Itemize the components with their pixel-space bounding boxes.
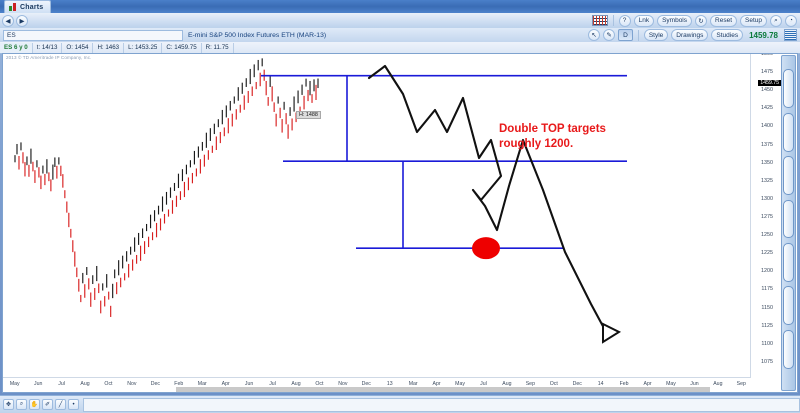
price-tick: 1375 bbox=[761, 142, 773, 148]
daily-interval-button[interactable]: D bbox=[618, 29, 633, 41]
price-tick: 1425 bbox=[761, 105, 773, 111]
price-tick: 1225 bbox=[761, 250, 773, 256]
price-tick: 1475 bbox=[761, 69, 773, 75]
status-field[interactable] bbox=[83, 398, 800, 412]
reset-button[interactable]: Reset bbox=[710, 15, 737, 27]
price-tick: 1450 bbox=[761, 87, 773, 93]
symbol-toolbar: ES E-mini S&P 500 Index Futures ETH (MAR… bbox=[0, 28, 800, 43]
line-tool[interactable]: ╱ bbox=[55, 399, 66, 410]
pencil-button[interactable]: ✎ bbox=[603, 29, 615, 41]
window-tab-label: Charts bbox=[20, 4, 43, 11]
dot-tool[interactable]: • bbox=[68, 399, 79, 410]
date-tick: Aug bbox=[713, 381, 722, 387]
title-bar: Charts bbox=[0, 0, 800, 13]
price-tick: 1300 bbox=[761, 196, 773, 202]
scrollbar-thumb[interactable] bbox=[783, 200, 794, 239]
toolbar-separator bbox=[613, 15, 614, 26]
refresh-button[interactable]: ↻ bbox=[695, 15, 707, 27]
pan-tool[interactable]: ✋ bbox=[29, 399, 40, 410]
scrollbar-thumb[interactable] bbox=[783, 69, 794, 108]
symbols-button[interactable]: Symbols bbox=[657, 15, 692, 27]
symbol-description: E-mini S&P 500 Index Futures ETH (MAR-13… bbox=[188, 32, 326, 39]
projection-arrowhead[interactable] bbox=[603, 324, 619, 342]
quote-open: O: 1454 bbox=[62, 43, 93, 53]
price-tick: 1200 bbox=[761, 268, 773, 274]
style-menu[interactable]: Style bbox=[644, 29, 668, 41]
date-tick: Jun bbox=[34, 381, 42, 387]
bar-chart-icon[interactable] bbox=[784, 29, 797, 41]
chart-plot-area[interactable] bbox=[3, 54, 751, 378]
status-bar: ✥ ⌕ ✋ ✐ ╱ • bbox=[0, 395, 800, 413]
date-tick: Dec bbox=[151, 381, 160, 387]
price-tick: 1500 bbox=[761, 53, 773, 57]
price-tick: 1150 bbox=[761, 305, 773, 311]
drawings-menu[interactable]: Drawings bbox=[671, 29, 708, 41]
price-axis-scrollbar[interactable] bbox=[781, 55, 796, 391]
price-tick: 1325 bbox=[761, 178, 773, 184]
link-button[interactable]: Lnk bbox=[634, 15, 654, 27]
arrow-right-icon[interactable]: ▶ bbox=[16, 15, 28, 27]
last-price-display: 1459.78 bbox=[746, 31, 781, 40]
quote-date: t: 14/13 bbox=[33, 43, 63, 53]
date-tick: May bbox=[10, 381, 20, 387]
chart-grid-icon[interactable] bbox=[592, 15, 608, 26]
studies-menu[interactable]: Studies bbox=[711, 29, 743, 41]
zoom-button[interactable]: ⌕ bbox=[770, 15, 782, 27]
annotation-line-1: Double TOP targets bbox=[499, 122, 606, 137]
date-tick: Jul bbox=[58, 381, 65, 387]
cursor-button[interactable]: ↖ bbox=[588, 29, 600, 41]
date-tick: Oct bbox=[104, 381, 112, 387]
price-tick: 1075 bbox=[761, 359, 773, 365]
high-price-tag: H: 1488 bbox=[296, 111, 321, 119]
quote-range: R: 11.75 bbox=[202, 43, 234, 53]
price-tick: 1275 bbox=[761, 214, 773, 220]
target-marker[interactable] bbox=[472, 237, 500, 259]
chart-annotation: Double TOP targets roughly 1200. bbox=[499, 122, 606, 152]
draw-tool[interactable]: ✐ bbox=[42, 399, 53, 410]
scrollbar-thumb[interactable] bbox=[783, 243, 794, 282]
clock-button[interactable]: ◔ bbox=[785, 15, 797, 27]
price-chart-svg bbox=[3, 54, 751, 378]
quote-symbol: ES 6 y 0 bbox=[0, 43, 33, 53]
arrow-left-icon[interactable]: ◀ bbox=[2, 15, 14, 27]
trading-platform-window: Charts ◀ ▶ ? Lnk Symbols ↻ Reset Setup ⌕… bbox=[0, 0, 800, 413]
watermark-banner: www.thecompletecoveragereport.blospot.co… bbox=[176, 387, 710, 393]
scrollbar-thumb[interactable] bbox=[783, 330, 794, 369]
annotation-line-2: roughly 1200. bbox=[499, 137, 606, 152]
price-tick: 1125 bbox=[761, 323, 773, 329]
toolbar-separator-2 bbox=[638, 30, 639, 41]
quote-low: L: 1453.25 bbox=[124, 43, 162, 53]
price-tick: 1100 bbox=[761, 341, 773, 347]
price-bars bbox=[15, 58, 318, 317]
setup-button[interactable]: Setup bbox=[740, 15, 767, 27]
chart-window[interactable]: 2013 © TD Ameritrade IP Company, Inc. H:… bbox=[2, 53, 798, 393]
scrollbar-thumb[interactable] bbox=[783, 113, 794, 152]
date-tick: Nov bbox=[127, 381, 136, 387]
price-tick: 1250 bbox=[761, 232, 773, 238]
quote-high: H: 1463 bbox=[93, 43, 124, 53]
price-axis[interactable]: 1500147514501425140013751350132513001275… bbox=[750, 54, 797, 392]
quote-close: C: 1459.75 bbox=[162, 43, 201, 53]
chart-icon bbox=[9, 3, 17, 11]
price-tick: 1400 bbox=[761, 123, 773, 129]
window-tab-charts[interactable]: Charts bbox=[4, 0, 51, 13]
crosshair-tool[interactable]: ✥ bbox=[3, 399, 14, 410]
date-tick: Aug bbox=[80, 381, 89, 387]
symbol-input[interactable]: ES bbox=[3, 30, 183, 41]
main-toolbar: ◀ ▶ ? Lnk Symbols ↻ Reset Setup ⌕ ◔ bbox=[0, 13, 800, 29]
date-tick: Sep bbox=[737, 381, 746, 387]
price-tick: 1350 bbox=[761, 160, 773, 166]
magnify-tool[interactable]: ⌕ bbox=[16, 399, 27, 410]
scrollbar-thumb[interactable] bbox=[783, 286, 794, 325]
help-button[interactable]: ? bbox=[619, 15, 631, 27]
projection-path[interactable] bbox=[369, 66, 605, 330]
last-price-axis-label: 1459.75 bbox=[758, 80, 781, 86]
scrollbar-thumb[interactable] bbox=[783, 156, 794, 195]
price-tick: 1175 bbox=[761, 286, 773, 292]
